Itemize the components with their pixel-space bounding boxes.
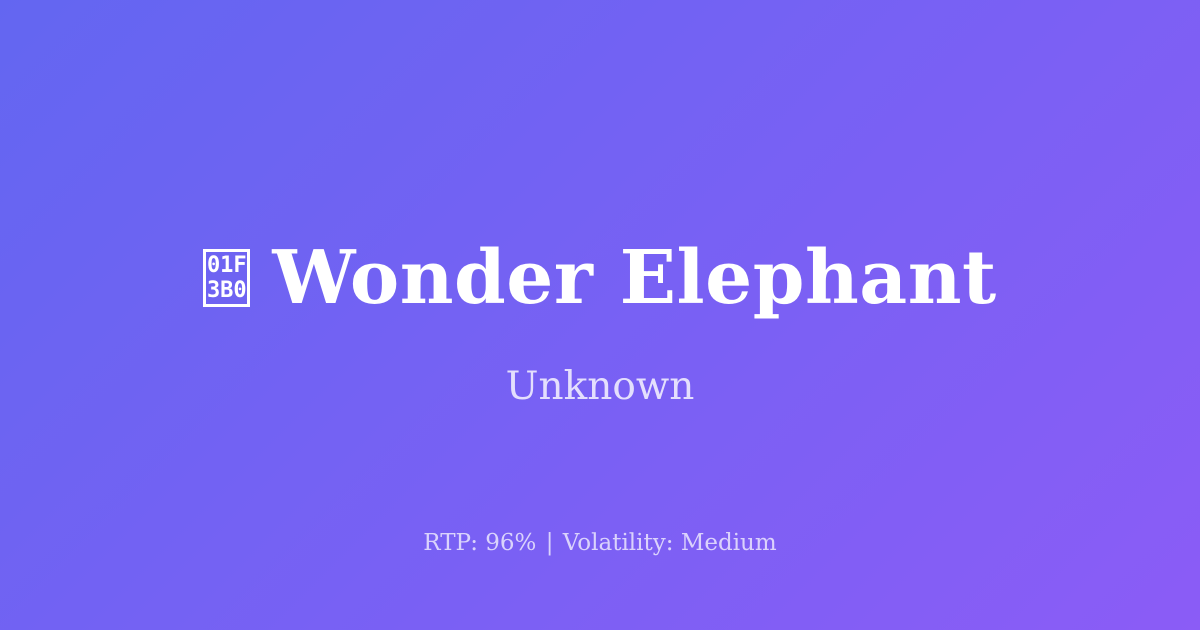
volatility-value: Medium: [681, 530, 777, 556]
page-title: Wonder Elephant: [272, 236, 996, 320]
rtp-value: 96%: [485, 530, 536, 556]
footer-separator: |: [544, 530, 556, 556]
page-subtitle: Unknown: [0, 364, 1200, 410]
page-footer-meta: RTP: 96% | Volatility: Medium: [0, 528, 1200, 558]
tofu-codepoint-top: 01F: [207, 253, 247, 278]
og-share-card: 01F 3B0 Wonder Elephant Unknown RTP: 96%…: [0, 0, 1200, 630]
tofu-codepoint-bottom: 3B0: [207, 278, 247, 303]
volatility-label: Volatility:: [563, 530, 674, 556]
rtp-label: RTP:: [423, 530, 478, 556]
title-row: 01F 3B0 Wonder Elephant: [0, 236, 1200, 320]
slot-machine-icon: 01F 3B0: [203, 249, 250, 307]
